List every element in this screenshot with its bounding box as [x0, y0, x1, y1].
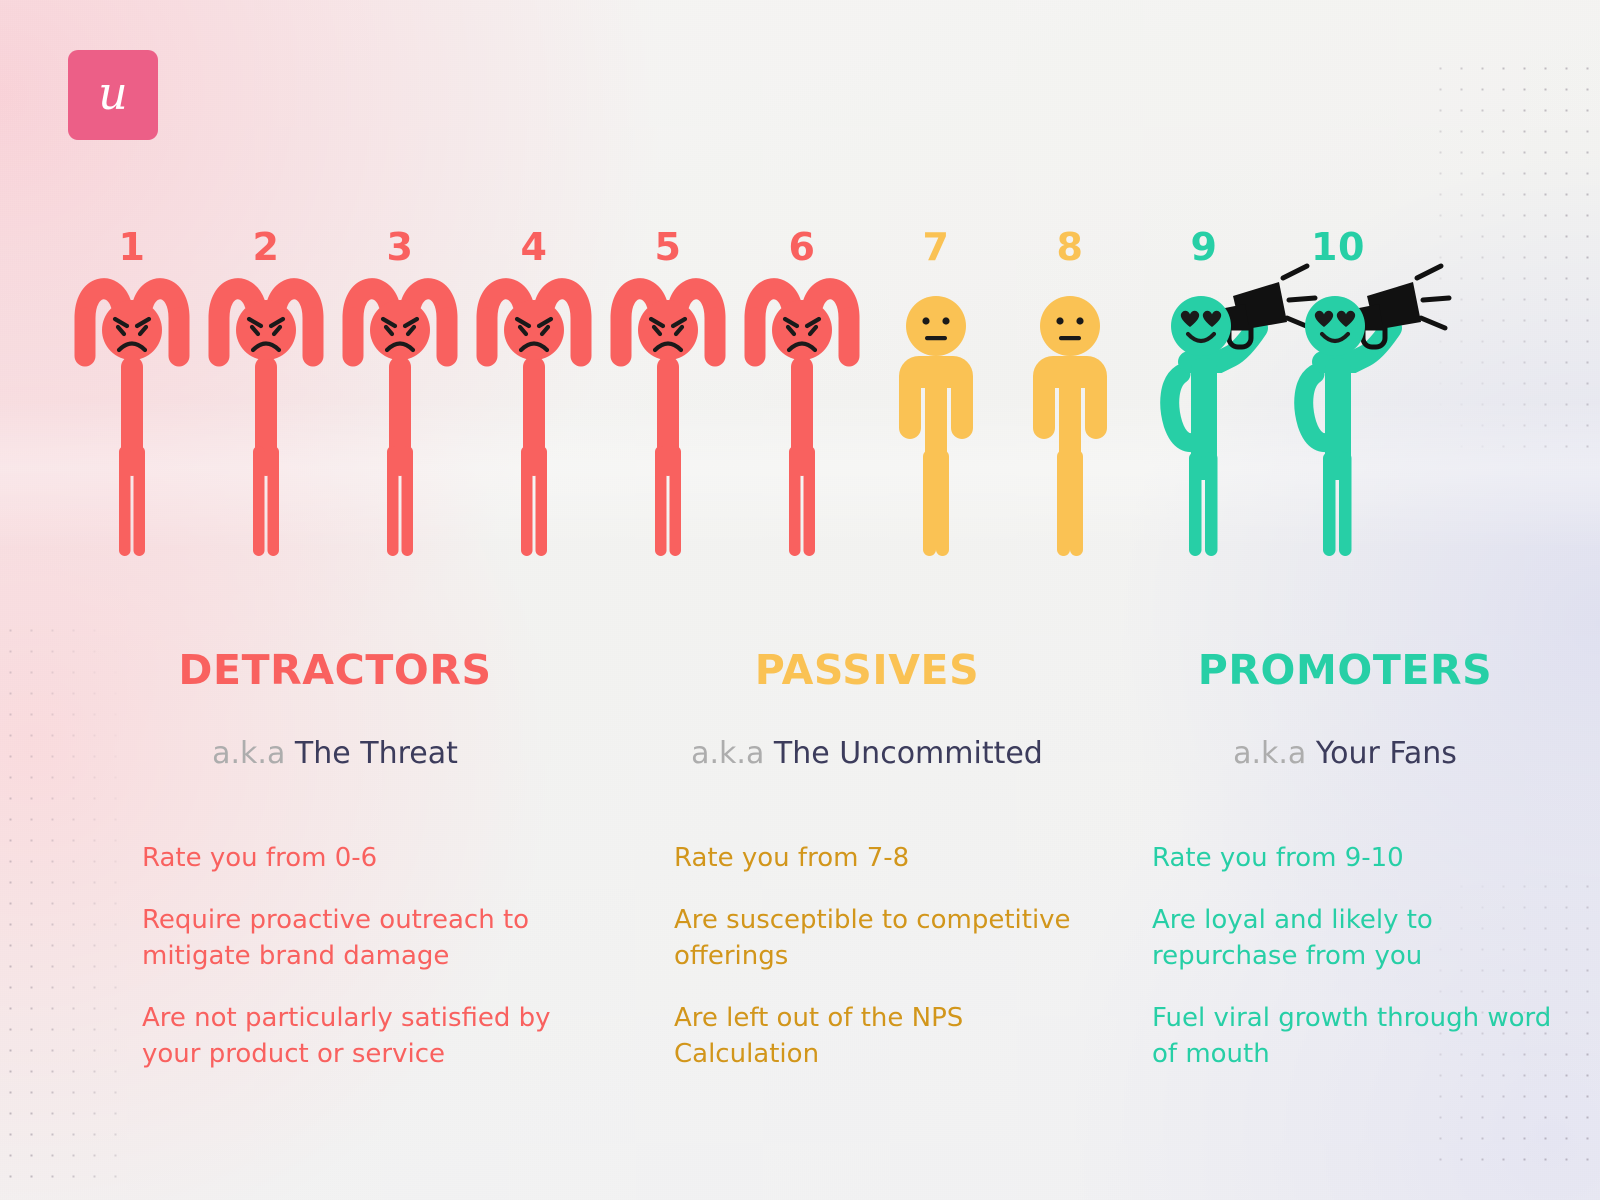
logo-letter-u: u — [98, 70, 128, 116]
scale-point-10: 10 — [1263, 228, 1413, 563]
aka-prefix-detractors: a.k.a — [212, 736, 285, 771]
scale-point-5: 5 — [593, 228, 743, 563]
aka-name-detractors: The Threat — [295, 736, 458, 771]
scale-point-2: 2 — [191, 228, 341, 563]
aka-name-promoters: Your Fans — [1316, 736, 1457, 771]
bullet-item: Require proactive outreach to mitigate b… — [100, 903, 570, 975]
aka-line-passives: a.k.a The Uncommitted — [632, 739, 1102, 769]
heading-detractors: DETRACTORS — [100, 650, 570, 691]
userpilot-logo[interactable]: u — [68, 50, 158, 140]
detractor-figure-2 — [191, 278, 341, 563]
scale-point-8: 8 — [995, 228, 1145, 563]
bullet-item: Are left out of the NPS Calculation — [632, 1001, 1102, 1073]
scale-point-9: 9 — [1129, 228, 1279, 563]
aka-name-passives: The Uncommitted — [774, 736, 1043, 771]
bullet-item: Are not particularly satisfied by your p… — [100, 1001, 570, 1073]
scale-number-8: 8 — [995, 228, 1145, 266]
promoter-figure-9 — [1129, 278, 1279, 563]
heading-passives: PASSIVES — [632, 650, 1102, 691]
scale-point-1: 1 — [57, 228, 207, 563]
nps-rating-scale: 1 2 3 4 — [0, 228, 1600, 578]
scale-number-7: 7 — [861, 228, 1011, 266]
bullet-item: Are loyal and likely to repurchase from … — [1110, 903, 1580, 975]
scale-point-6: 6 — [727, 228, 877, 563]
bullet-list-passives: Rate you from 7-8Are susceptible to comp… — [632, 841, 1102, 1072]
column-detractors: DETRACTORSa.k.a The ThreatRate you from … — [100, 650, 570, 1098]
heading-promoters: PROMOTERS — [1110, 650, 1580, 691]
detractor-figure-4 — [459, 278, 609, 563]
passive-figure-7 — [861, 278, 1011, 563]
scale-point-3: 3 — [325, 228, 475, 563]
detractor-figure-6 — [727, 278, 877, 563]
bullet-item: Fuel viral growth through word of mouth — [1110, 1001, 1580, 1073]
aka-prefix-passives: a.k.a — [691, 736, 764, 771]
scale-point-4: 4 — [459, 228, 609, 563]
bullet-item: Rate you from 7-8 — [632, 841, 1102, 877]
aka-line-promoters: a.k.a Your Fans — [1110, 739, 1580, 769]
column-passives: PASSIVESa.k.a The UncommittedRate you fr… — [632, 650, 1102, 1098]
bullet-list-promoters: Rate you from 9-10Are loyal and likely t… — [1110, 841, 1580, 1072]
category-columns: DETRACTORSa.k.a The ThreatRate you from … — [0, 650, 1600, 1090]
aka-prefix-promoters: a.k.a — [1233, 736, 1306, 771]
infographic-canvas: u 1 2 3 — [0, 0, 1600, 1200]
scale-number-6: 6 — [727, 228, 877, 266]
scale-number-10: 10 — [1263, 228, 1413, 266]
scale-number-9: 9 — [1129, 228, 1279, 266]
column-promoters: PROMOTERSa.k.a Your FansRate you from 9-… — [1110, 650, 1580, 1098]
detractor-figure-1 — [57, 278, 207, 563]
promoter-figure-10 — [1263, 278, 1413, 563]
bullet-item: Rate you from 9-10 — [1110, 841, 1580, 877]
scale-point-7: 7 — [861, 228, 1011, 563]
bullet-item: Rate you from 0-6 — [100, 841, 570, 877]
scale-number-1: 1 — [57, 228, 207, 266]
bullet-item: Are susceptible to competitive offerings — [632, 903, 1102, 975]
bullet-list-detractors: Rate you from 0-6Require proactive outre… — [100, 841, 570, 1072]
aka-line-detractors: a.k.a The Threat — [100, 739, 570, 769]
detractor-figure-5 — [593, 278, 743, 563]
passive-figure-8 — [995, 278, 1145, 563]
scale-number-4: 4 — [459, 228, 609, 266]
scale-number-2: 2 — [191, 228, 341, 266]
detractor-figure-3 — [325, 278, 475, 563]
scale-number-5: 5 — [593, 228, 743, 266]
scale-number-3: 3 — [325, 228, 475, 266]
